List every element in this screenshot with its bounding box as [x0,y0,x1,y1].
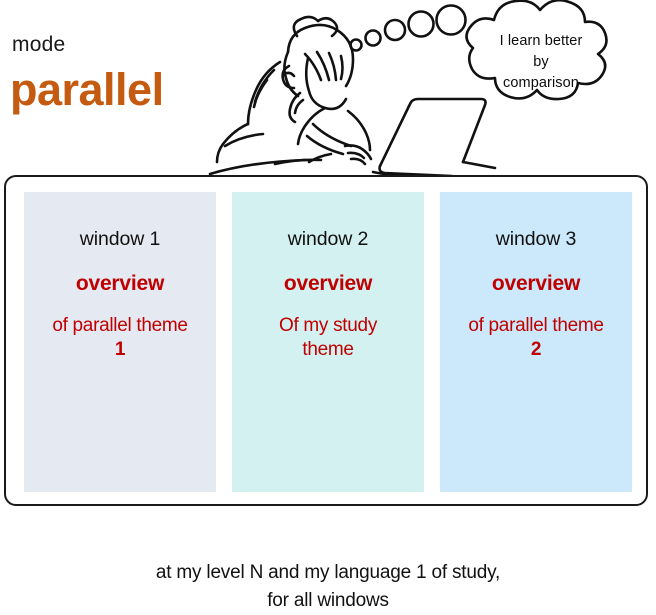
window-panel-3-title: window 3 [440,228,632,251]
window-panel-1-heading: overview [24,272,216,296]
window-panel-3-subtitle-text: of parallel theme [468,315,603,336]
footer-note-line-2: for all windows [24,587,632,615]
windows-frame: window 1 overview of parallel theme 1 wi… [4,175,648,506]
thought-bubble-line-3: comparison [466,73,616,94]
thought-bubble-line-1: I learn better [466,31,616,52]
mode-value: parallel [10,66,164,113]
window-panel-1-subtitle: of parallel theme 1 [24,314,216,363]
thought-bubble-line-2: by [466,52,616,73]
window-panel-3[interactable]: window 3 overview of parallel theme 2 [440,192,632,492]
thought-bubble-text: I learn better by comparison [466,31,616,94]
header-illustration-area: mode parallel [0,0,656,175]
window-panel-3-number: 2 [440,338,632,362]
window-panel-2-title: window 2 [232,228,424,251]
window-panel-3-subtitle: of parallel theme 2 [440,314,632,363]
window-panel-1-number: 1 [24,338,216,362]
window-panel-3-heading: overview [440,272,632,296]
footer-note: at my level N and my language 1 of study… [24,559,632,615]
window-panel-2-subtitle: Of my study theme [232,314,424,363]
window-panel-1-title: window 1 [24,228,216,251]
window-panel-2-subtitle-text: Of my study [279,315,377,336]
window-panels: window 1 overview of parallel theme 1 wi… [24,192,632,492]
window-panel-1[interactable]: window 1 overview of parallel theme 1 [24,192,216,492]
window-panel-2-number: theme [232,338,424,362]
window-panel-2-heading: overview [232,272,424,296]
window-panel-2[interactable]: window 2 overview Of my study theme [232,192,424,492]
mode-label: mode [12,34,65,55]
footer-note-line-1: at my level N and my language 1 of study… [24,559,632,587]
window-panel-1-subtitle-text: of parallel theme [52,315,187,336]
